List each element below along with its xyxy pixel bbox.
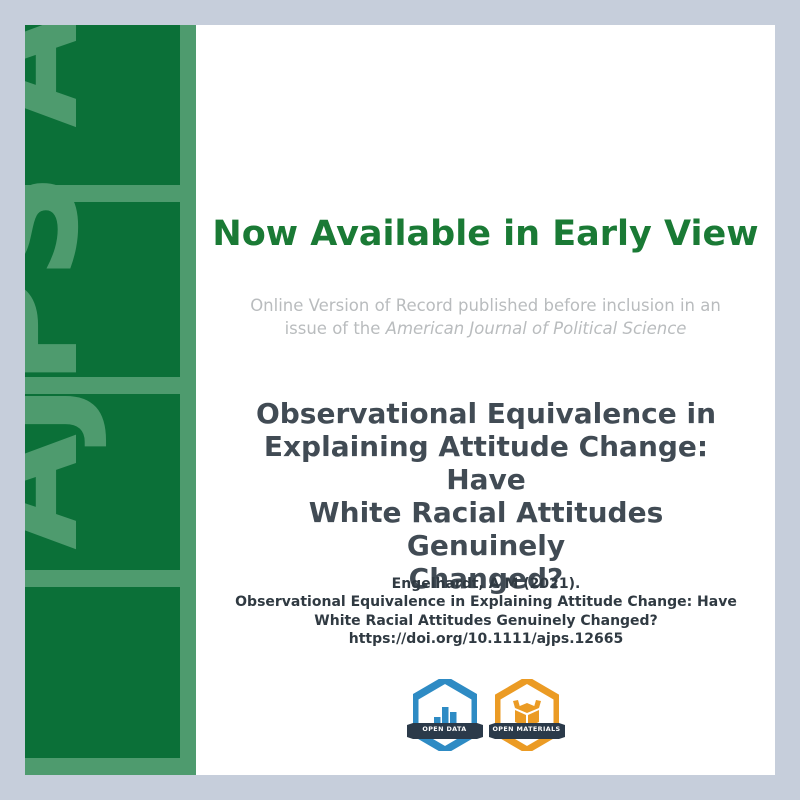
sidebar-divider-band xyxy=(25,758,195,775)
subheadline-line-1: Online Version of Record published befor… xyxy=(250,296,721,315)
open-materials-badge[interactable]: OPEN MATERIALS xyxy=(489,677,565,759)
sidebar-divider-band xyxy=(25,377,195,394)
article-citation: Engelhardt, A M (2021). Observational Eq… xyxy=(216,575,756,649)
open-data-hexagon xyxy=(413,679,477,751)
page-subheadline: Online Version of Record published befor… xyxy=(218,295,753,341)
page-headline: Now Available in Early View xyxy=(196,215,775,254)
content-panel: Now Available in Early View Online Versi… xyxy=(196,25,775,775)
ajps-wordmark-strip: AJPS AJPS AJPS AJPS xyxy=(25,25,110,550)
ajps-wordmark-text: AJPS AJPS AJPS AJPS xyxy=(25,25,100,550)
open-materials-label: OPEN MATERIALS xyxy=(489,725,565,733)
open-data-badge[interactable]: OPEN DATA xyxy=(407,677,483,759)
open-science-badges: OPEN DATA OPEN xyxy=(196,677,775,759)
journal-name: American Journal of Political Science xyxy=(386,319,687,338)
citation-title-line-2: White Racial Attitudes Genuinely Changed… xyxy=(314,613,657,629)
sidebar-divider-band xyxy=(25,185,195,202)
subheadline-line-2-prefix: issue of the xyxy=(285,319,386,338)
citation-doi-link[interactable]: https://doi.org/10.1111/ajps.12665 xyxy=(349,631,623,647)
article-title-line-3: White Racial Attitudes Genuinely xyxy=(309,496,663,562)
poster-canvas: AJPS AJPS AJPS AJPS Now Available in Ear… xyxy=(0,0,800,800)
sidebar-accent-edge xyxy=(180,25,196,775)
citation-author-year: Engelhardt, A M (2021). xyxy=(392,576,581,592)
citation-title-line-1: Observational Equivalence in Explaining … xyxy=(235,594,737,610)
open-materials-hexagon xyxy=(495,679,559,751)
ajps-branding-sidebar: AJPS AJPS AJPS AJPS xyxy=(25,25,195,775)
article-title-line-2: Explaining Attitude Change: Have xyxy=(264,430,708,496)
article-title-line-1: Observational Equivalence in xyxy=(256,397,716,430)
sidebar-divider-band xyxy=(25,570,195,587)
open-data-label: OPEN DATA xyxy=(407,725,483,733)
article-title: Observational Equivalence in Explaining … xyxy=(240,397,732,595)
